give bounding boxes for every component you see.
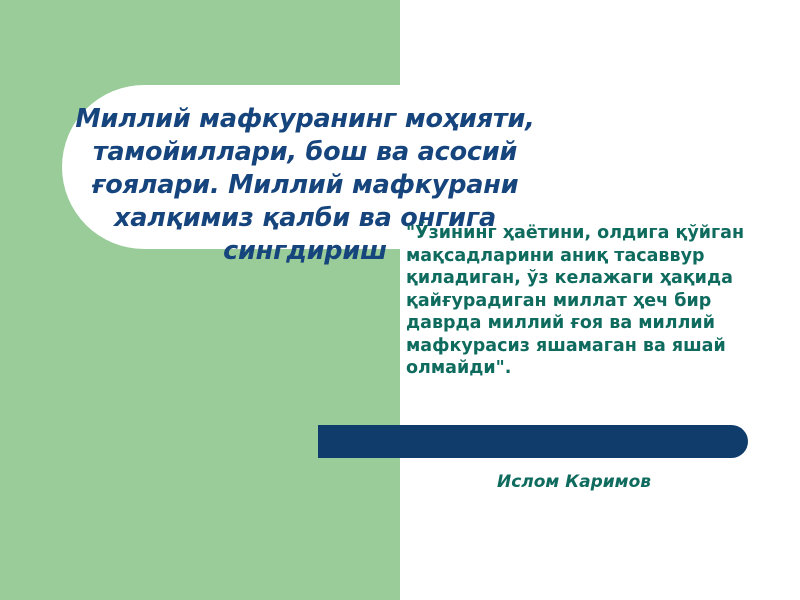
navy-accent-bar [318, 425, 748, 458]
quote-attribution: Ислом Каримов [400, 472, 748, 492]
presentation-slide: Миллий мафкуранинг моҳияти, тамойиллари,… [0, 0, 800, 600]
quote-body-text: "Ўзининг ҳаётини, олдига қўйган мақсадла… [406, 222, 778, 380]
